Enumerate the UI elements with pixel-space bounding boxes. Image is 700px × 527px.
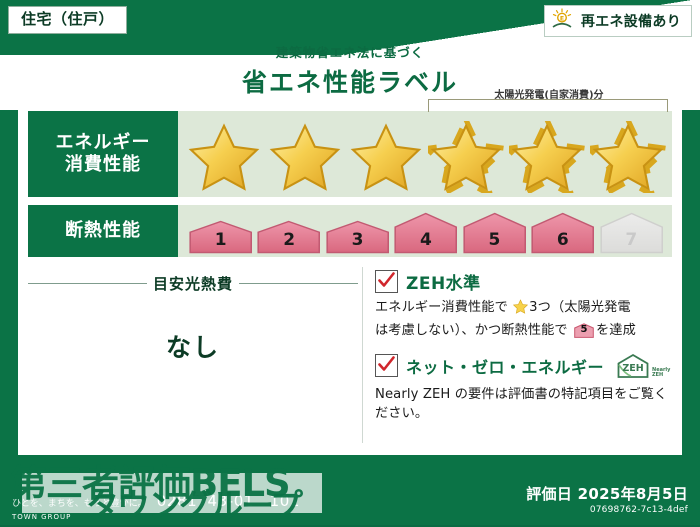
document-id: 07698762-7c13-4def [526,505,688,515]
zeh-logo: ZEH Nearly ZEH [616,353,670,379]
label-root: 住宅（住戸） E 再エネ設備あり 建築物省エネ法に基づく 省エネ性能ラベル [0,0,700,525]
insulation-level-3: 3 [325,220,390,254]
insulation-level-number: 5 [488,230,500,254]
inline-star-icon [513,299,528,321]
inline-house-badge: 5 [574,323,594,338]
utility-cost-heading-text: 目安光熱費 [153,273,233,294]
zeh-standard-body: エネルギー消費性能で 3つ（太陽光発電 は考慮しない）、かつ断熱性能で 5 を達… [375,298,672,341]
energy-star-area: 太陽光発電(自家消費)分 [178,111,672,197]
inline-house-number: 5 [574,323,594,338]
star-solar-dashed [428,121,504,193]
insulation-level-4: 4 [393,212,458,254]
net-zero-checkbox[interactable] [375,354,398,377]
insulation-level-number: 1 [215,230,227,254]
utility-cost-section: 目安光熱費 なし [28,267,358,443]
insulation-level-number: 4 [420,230,432,254]
title-main: 省エネ性能ラベル [0,63,700,99]
star-solid [267,121,343,193]
star-solar-dashed [509,121,585,193]
insulation-performance-row: 断熱性能 1 2 3 [28,205,672,257]
insulation-house-scale: 1 2 3 4 [188,212,664,254]
section-divider [362,267,363,443]
energy-label-line2: 消費性能 [65,154,141,177]
evaluation-date: 評価日 2025年8月5日 [526,483,688,504]
insulation-label-text: 断熱性能 [65,220,141,243]
zeh-body-part-a: エネルギー消費性能で [375,300,508,315]
insulation-level-number: 2 [283,230,295,254]
svg-text:ZEH: ZEH [622,363,643,374]
insulation-performance-label: 断熱性能 [28,205,178,257]
insulation-scale-area: 1 2 3 4 [178,205,672,257]
utility-cost-value: なし [28,328,358,364]
insulation-level-1: 1 [188,220,253,254]
footer-left: ひとを、まちを、もっと豊かに。 0281743-01 101 [12,490,300,511]
card-bottom: 目安光熱費 なし ZEH水準 エネルギー消費性能で [28,267,672,443]
insulation-level-number: 6 [557,230,569,254]
check-icon [377,355,396,374]
title-subtitle: 建築物省エネ法に基づく [0,42,700,61]
net-zero-energy-row: ネット・ゼロ・エネルギー ZEH Nearly ZEH [375,353,672,379]
insulation-level-number: 3 [352,230,364,254]
solar-bracket [428,99,668,112]
net-zero-title: ネット・ゼロ・エネルギー [406,354,604,378]
main-card: エネルギー 消費性能 太陽光発電(自家消費)分 [18,103,682,455]
sun-icon: E [551,8,575,34]
svg-text:E: E [560,15,564,22]
energy-performance-row: エネルギー 消費性能 太陽光発電(自家消費)分 [28,111,672,197]
footer-tagline: ひとを、まちを、もっと豊かに。 [12,496,147,509]
heading-rule-left [28,283,147,284]
insulation-level-number: 7 [625,230,637,254]
zeh-body-part-b: 3つ（太陽光発電 [529,300,631,315]
footer-number: 0281743-01 101 [157,490,300,511]
zeh-section: ZEH水準 エネルギー消費性能で 3つ（太陽光発電 は考慮しない）、かつ断熱性能… [375,267,672,443]
insulation-level-6: 6 [530,212,595,254]
insulation-level-7: 7 [599,212,664,254]
zeh-logo-subtext: Nearly ZEH [652,368,670,379]
housing-type-label: 住宅（住戸） [21,10,114,28]
zeh-standard-checkbox[interactable] [375,270,398,293]
zeh-standard-row: ZEH水準 [375,269,672,294]
footer-right: 評価日 2025年8月5日 07698762-7c13-4def [526,483,688,515]
zeh-house-icon: ZEH [616,353,650,379]
energy-label-line1: エネルギー [56,132,151,155]
zeh-standard-title: ZEH水準 [406,269,481,294]
insulation-level-2: 2 [256,220,321,254]
footer-bar: ひとを、まちを、もっと豊かに。 0281743-01 101 評価日 2025年… [0,463,700,525]
page-title: 建築物省エネ法に基づく 省エネ性能ラベル [0,42,700,99]
zeh-logo-sub2: ZEH [652,372,663,378]
zeh-body-part-d: を達成 [596,323,636,338]
net-zero-body: Nearly ZEH の要件は評価書の特記項目をご覧ください。 [375,385,672,425]
utility-cost-heading: 目安光熱費 [28,273,358,294]
energy-performance-label: エネルギー 消費性能 [28,111,178,197]
housing-type-tag: 住宅（住戸） [8,6,127,34]
renewable-badge-label: 再エネ設備あり [581,11,681,31]
star-solar-dashed [590,121,666,193]
insulation-level-5: 5 [462,212,527,254]
star-solid [348,121,424,193]
heading-rule-right [239,283,358,284]
zeh-body-part-c: は考慮しない）、かつ断熱性能で [375,323,568,338]
renewable-energy-badge: E 再エネ設備あり [544,5,692,37]
star-solid [186,121,262,193]
check-icon [377,271,396,290]
star-rating [186,121,666,193]
